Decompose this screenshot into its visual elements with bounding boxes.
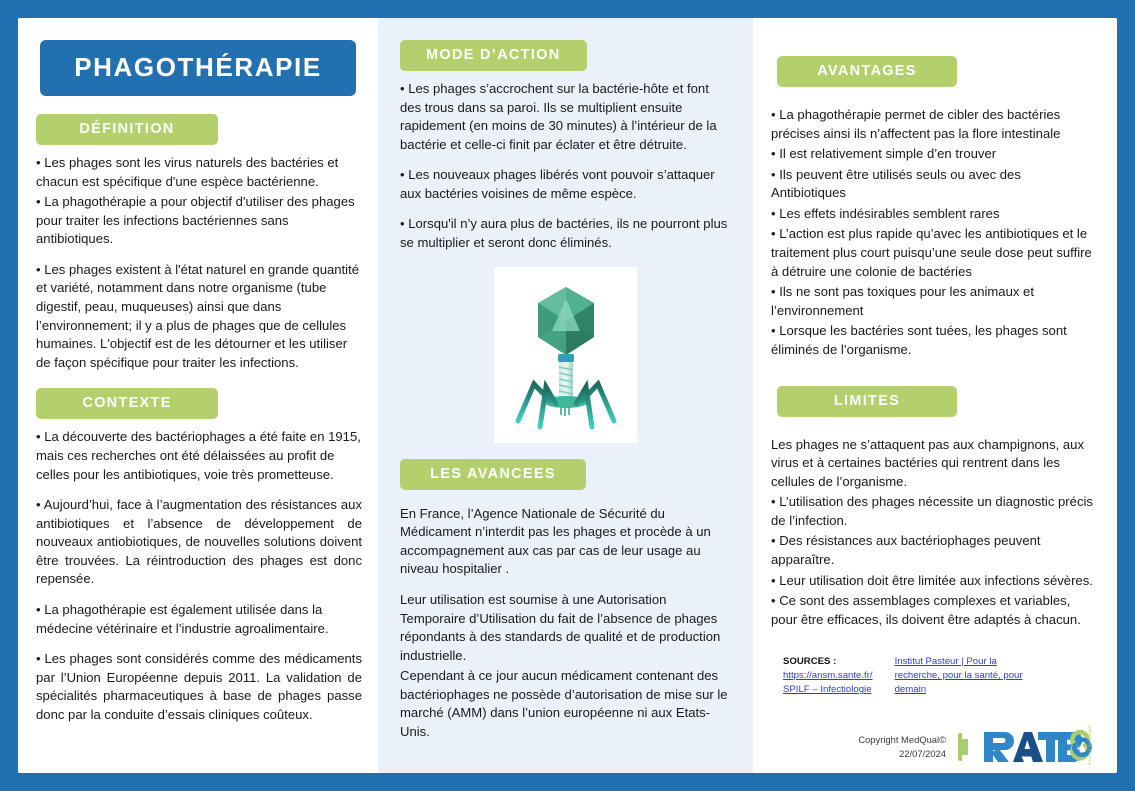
section-body-mode-action: • Les phages s’accrochent sur la bactéri…	[400, 80, 731, 253]
paragraph: • La découverte des bactériophages a été…	[36, 428, 362, 484]
paragraph: • Les phages sont les virus naturels des…	[36, 154, 362, 191]
sources-label: SOURCES :	[783, 655, 873, 669]
list-item: • Il est relativement simple d’en trouve…	[771, 145, 1097, 164]
section-header-definition-label: DÉFINITION	[79, 121, 174, 137]
section-header-contexte: CONTEXTE	[36, 388, 218, 419]
source-link-ansm[interactable]: https://ansm.sante.fr/	[783, 669, 873, 683]
list-item: • La phagothérapie permet de cibler des …	[771, 106, 1097, 143]
list-item: • Ils ne sont pas toxiques pour les anim…	[771, 283, 1097, 320]
column-right: AVANTAGES • La phagothérapie permet de c…	[753, 18, 1117, 773]
section-header-avancees: LES AVANCEES	[400, 459, 586, 490]
sources-block: SOURCES : https://ansm.sante.fr/ SPILF –…	[771, 655, 1097, 697]
poster: PHAGOTHÉRAPIE DÉFINITION • Les phages so…	[18, 18, 1117, 773]
section-header-contexte-label: CONTEXTE	[82, 395, 171, 411]
bacteriophage-image	[494, 267, 637, 443]
paragraph: Cependant à ce jour aucun médicament con…	[400, 667, 731, 741]
bacteriophage-icon	[506, 275, 626, 435]
copyright-block: Copyright MedQual© 22/07/2024	[858, 733, 946, 761]
section-header-avantages-label: AVANTAGES	[817, 63, 917, 79]
cratb-logo-icon: MEDQUAL POUR LE BON USAGE	[958, 725, 1093, 769]
paragraph: En France, l’Agence Nationale de Sécurit…	[400, 505, 731, 579]
page-title-text: PHAGOTHÉRAPIE	[74, 52, 322, 82]
section-header-avancees-label: LES AVANCEES	[430, 466, 556, 482]
section-body-definition: • Les phages sont les virus naturels des…	[36, 154, 362, 372]
sources-right: Institut Pasteur | Pour la recherche, po…	[895, 655, 1045, 697]
copyright-text: Copyright MedQual©	[858, 733, 946, 747]
paragraph: • Lorsqu'il n’y aura plus de bactéries, …	[400, 215, 731, 252]
source-link-institut-pasteur[interactable]: Institut Pasteur | Pour la recherche, po…	[895, 655, 1045, 697]
column-middle: MODE D’ACTION • Les phages s’accrochent …	[378, 18, 753, 773]
paragraph: • Les phages sont considérés comme des m…	[36, 650, 362, 724]
paragraph: • Les phages existent à l'état naturel e…	[36, 261, 362, 372]
section-body-contexte: • La découverte des bactériophages a été…	[36, 428, 362, 724]
section-header-limites-label: LIMITES	[834, 393, 900, 409]
paragraph: • La phagothérapie est également utilisé…	[36, 601, 362, 638]
paragraph: Les phages ne s’attaquent pas aux champi…	[771, 436, 1097, 492]
footer: Copyright MedQual© 22/07/2024	[771, 725, 1097, 769]
section-header-limites: LIMITES	[777, 386, 957, 417]
paragraph: Leur utilisation est soumise à une Autor…	[400, 591, 731, 665]
section-body-avantages: • La phagothérapie permet de cibler des …	[771, 106, 1097, 360]
section-body-avancees: En France, l’Agence Nationale de Sécurit…	[400, 505, 731, 742]
section-body-limites: Les phages ne s’attaquent pas aux champi…	[771, 436, 1097, 630]
section-header-mode-action-label: MODE D’ACTION	[426, 47, 561, 63]
paragraph: • La phagothérapie a pour objectif d'uti…	[36, 193, 362, 249]
list-item: • Ils peuvent être utilisés seuls ou ave…	[771, 166, 1097, 203]
poster-columns: PHAGOTHÉRAPIE DÉFINITION • Les phages so…	[18, 18, 1117, 773]
list-item: • Ce sont des assemblages complexes et v…	[771, 592, 1097, 629]
section-header-avantages: AVANTAGES	[777, 56, 957, 87]
list-item: • L’utilisation des phages nécessite un …	[771, 493, 1097, 530]
list-item: • Les effets indésirables semblent rares	[771, 205, 1097, 224]
paragraph: • Les nouveaux phages libérés vont pouvo…	[400, 166, 731, 203]
source-link-spilf[interactable]: SPILF – Infectiologie	[783, 683, 873, 697]
sources-left: SOURCES : https://ansm.sante.fr/ SPILF –…	[783, 655, 873, 697]
list-item: • L’action est plus rapide qu’avec les a…	[771, 225, 1097, 281]
section-header-definition: DÉFINITION	[36, 114, 218, 145]
column-left: PHAGOTHÉRAPIE DÉFINITION • Les phages so…	[18, 18, 378, 773]
list-item: • Des résistances aux bactériophages peu…	[771, 532, 1097, 569]
list-item: • Lorsque les bactéries sont tuées, les …	[771, 322, 1097, 359]
cratb-logo: MEDQUAL POUR LE BON USAGE	[958, 725, 1093, 769]
paragraph: • Aujourd’hui, face à l’augmentation des…	[36, 496, 362, 589]
page-title: PHAGOTHÉRAPIE	[40, 40, 356, 96]
logo-tagline-text: POUR LE BON USAGE	[1088, 725, 1092, 765]
section-header-mode-action: MODE D’ACTION	[400, 40, 587, 71]
copyright-date: 22/07/2024	[858, 747, 946, 761]
list-item: • Leur utilisation doit être limitée aux…	[771, 572, 1097, 591]
paragraph: • Les phages s’accrochent sur la bactéri…	[400, 80, 731, 154]
